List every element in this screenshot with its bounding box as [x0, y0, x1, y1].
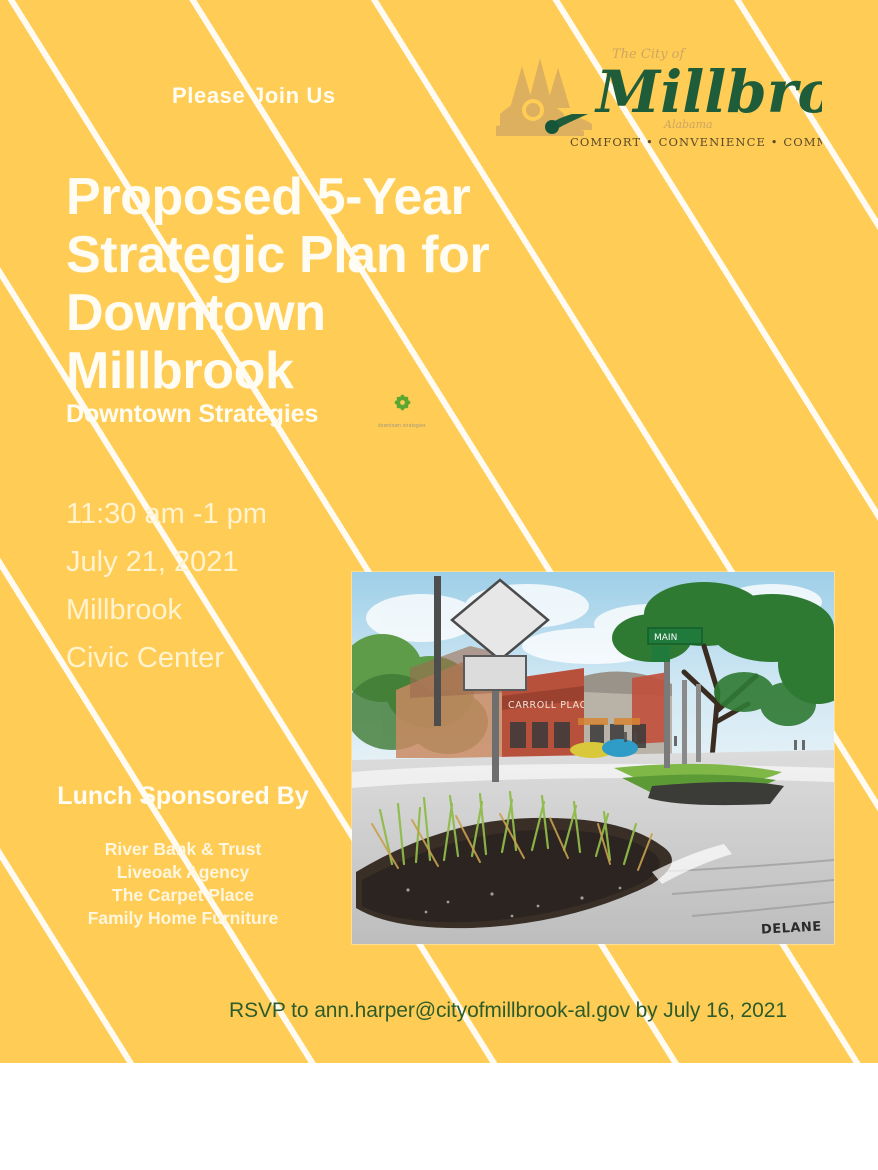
sponsors-list: River Bank & Trust Liveoak Agency The Ca… [52, 838, 314, 930]
city-of-millbrook-logo: The City of Millbrook Alabama COMFORT • … [492, 36, 822, 156]
logo-state: Alabama [663, 118, 713, 131]
sponsor-item: The Carpet Place [52, 884, 314, 907]
downtown-illustration: CARROLL PLACE [352, 572, 834, 944]
title-line-3: Downtown [66, 284, 586, 342]
street-sign-text: MAIN [654, 633, 677, 643]
sponsor-item: Liveoak Agency [52, 861, 314, 884]
page-title: Proposed 5-Year Strategic Plan for Downt… [66, 168, 586, 400]
storefront-sign-text: CARROLL PLACE [508, 700, 593, 711]
logo-city-name: Millbrook [594, 58, 822, 126]
sponsor-item: Family Home Furniture [52, 907, 314, 930]
subtitle: Downtown Strategies [66, 400, 318, 429]
watercolor-street-scene: CARROLL PLACE [352, 572, 834, 944]
downtown-strategies-wordmark: downtown strategies [364, 423, 440, 429]
downtown-strategies-mark-icon [394, 394, 411, 411]
event-details: 11:30 am -1 pm July 21, 2021 Millbrook C… [66, 490, 267, 682]
flyer-page: The City of Millbrook Alabama COMFORT • … [0, 0, 878, 1170]
poster-panel: The City of Millbrook Alabama COMFORT • … [0, 0, 878, 1063]
title-line-4: Millbrook [66, 342, 586, 400]
join-us-label: Please Join Us [172, 83, 336, 109]
event-date: July 21, 2021 [66, 538, 267, 586]
event-venue: Civic Center [66, 634, 267, 682]
logo-tagline: COMFORT • CONVENIENCE • COMMUNITY [570, 135, 822, 149]
sponsors-heading: Lunch Sponsored By [52, 782, 314, 811]
millbrook-emblem-icon [496, 58, 592, 136]
event-city: Millbrook [66, 586, 267, 634]
event-time: 11:30 am -1 pm [66, 490, 267, 538]
title-line-1: Proposed 5-Year [66, 168, 586, 226]
title-line-2: Strategic Plan for [66, 226, 586, 284]
sponsor-item: River Bank & Trust [52, 838, 314, 861]
downtown-strategies-logo: downtown strategies [364, 392, 440, 436]
artwork-signature: DELANE [761, 919, 822, 937]
rsvp-line: RSVP to ann.harper@cityofmillbrook-al.go… [229, 999, 787, 1023]
